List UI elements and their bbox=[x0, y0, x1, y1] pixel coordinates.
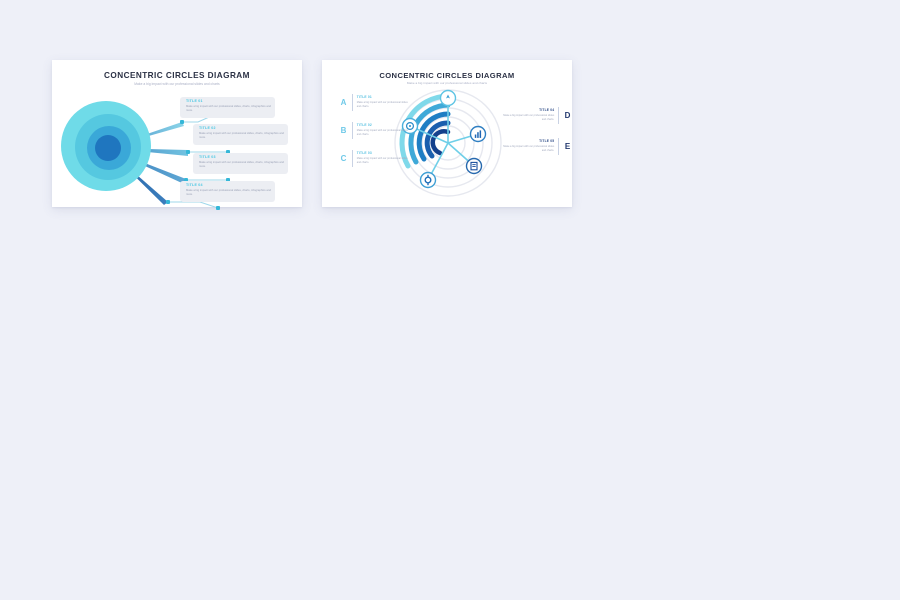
row-letter: B bbox=[339, 127, 348, 135]
row-title: TITLE 02 bbox=[357, 124, 409, 127]
callout-block[interactable]: TITLE 04 Make a big impact with our prof… bbox=[180, 181, 275, 202]
row-divider bbox=[352, 150, 353, 167]
row-divider bbox=[352, 94, 353, 111]
row-body: Make a big impact with our professional … bbox=[357, 157, 409, 165]
row-divider bbox=[558, 107, 559, 124]
canvas: CONCENTRIC CIRCLES DIAGRAM Make a big im… bbox=[0, 0, 900, 600]
row-body: Make a big impact with our professional … bbox=[357, 101, 409, 109]
row-title: TITLE 04 bbox=[502, 109, 554, 112]
callout-block[interactable]: TITLE 01 Make a big impact with our prof… bbox=[180, 97, 275, 118]
row-body: Make a big impact with our professional … bbox=[502, 145, 554, 153]
row-body: Make a big impact with our professional … bbox=[502, 114, 554, 122]
row-divider bbox=[352, 122, 353, 139]
callout-title: TITLE 03 bbox=[199, 156, 284, 160]
slide-card-left[interactable]: CONCENTRIC CIRCLES DIAGRAM Make a big im… bbox=[52, 60, 302, 207]
row-letter: E bbox=[563, 143, 572, 151]
list-item[interactable]: TITLE 05 Make a big impact with our prof… bbox=[502, 138, 572, 155]
ring-core bbox=[95, 135, 121, 161]
radar-node bbox=[467, 159, 482, 174]
row-letter: C bbox=[339, 155, 348, 163]
callout-title: TITLE 01 bbox=[186, 100, 271, 104]
row-title: TITLE 01 bbox=[357, 96, 409, 99]
row-divider bbox=[558, 138, 559, 155]
row-body: Make a big impact with our professional … bbox=[357, 129, 409, 137]
page-title: CONCENTRIC CIRCLES DIAGRAM bbox=[322, 71, 572, 80]
callout-block[interactable]: TITLE 03 Make a big impact with our prof… bbox=[193, 153, 288, 174]
page-subtitle: Make a big impact with our professional … bbox=[322, 81, 572, 85]
list-item[interactable]: A TITLE 01 Make a big impact with our pr… bbox=[339, 94, 409, 111]
list-item[interactable]: C TITLE 03 Make a big impact with our pr… bbox=[339, 150, 409, 167]
concentric-disc-diagram bbox=[60, 90, 170, 198]
disc-rings bbox=[61, 101, 151, 191]
radar-node bbox=[441, 91, 456, 106]
list-item[interactable]: TITLE 04 Make a big impact with our prof… bbox=[502, 107, 572, 124]
row-letter: A bbox=[339, 99, 348, 107]
radar-node bbox=[471, 127, 486, 142]
row-letter: D bbox=[563, 112, 572, 120]
callout-body: Make a big impact with our professional … bbox=[186, 189, 271, 197]
row-title: TITLE 03 bbox=[357, 152, 409, 155]
radar-node bbox=[421, 173, 436, 188]
callout-body: Make a big impact with our professional … bbox=[199, 132, 284, 140]
page-title: CONCENTRIC CIRCLES DIAGRAM bbox=[52, 71, 302, 80]
callout-block[interactable]: TITLE 02 Make a big impact with our prof… bbox=[193, 124, 288, 145]
callout-body: Make a big impact with our professional … bbox=[186, 105, 271, 113]
page-subtitle: Make a big impact with our professional … bbox=[52, 82, 302, 86]
callout-title: TITLE 02 bbox=[199, 127, 284, 131]
slide-card-right[interactable]: CONCENTRIC CIRCLES DIAGRAM Make a big im… bbox=[322, 60, 572, 207]
list-item[interactable]: B TITLE 02 Make a big impact with our pr… bbox=[339, 122, 409, 139]
callout-title: TITLE 04 bbox=[186, 184, 271, 188]
callout-body: Make a big impact with our professional … bbox=[199, 161, 284, 169]
row-title: TITLE 05 bbox=[502, 140, 554, 143]
